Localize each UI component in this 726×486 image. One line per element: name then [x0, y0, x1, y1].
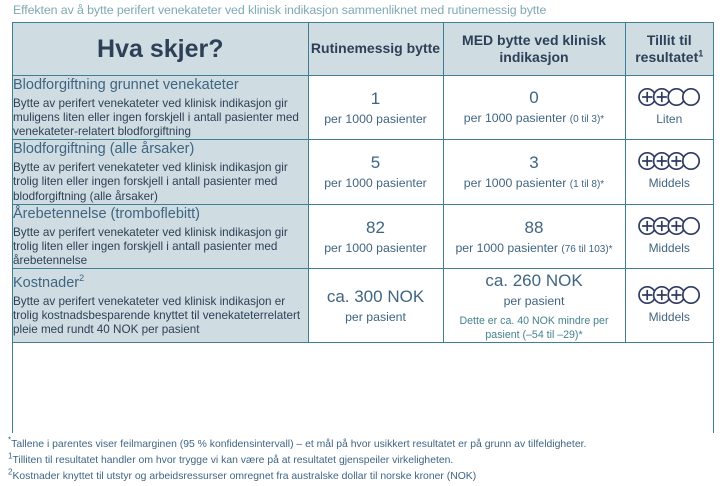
- outcome-cell: Blodforgiftning grunnet venekateterBytte…: [13, 75, 308, 140]
- footnote-text: Tilliten til resultatet handler om hvor …: [12, 455, 453, 466]
- routine-unit: per 1000 pasienter: [309, 111, 443, 128]
- outcome-cell: Kostnader2Bytte av perifert venekateter …: [13, 269, 308, 343]
- confidence-interval: (76 til 103)*: [561, 244, 612, 255]
- footnote: 2Kostnader knyttet til utstyr og arbeids…: [8, 469, 718, 485]
- outcome-title: Kostnader2: [13, 274, 308, 293]
- trust-label: Liten: [656, 112, 682, 126]
- trust-label: Middels: [649, 310, 690, 324]
- table-row: Kostnader2Bytte av perifert venekateter …: [13, 269, 713, 343]
- table-header-row: Hva skjer? Rutinemessig bytte MED bytte …: [13, 23, 713, 75]
- clinical-value: 3: [444, 151, 625, 175]
- clinical-cell: 0per 1000 pasienter (0 til 3)*: [443, 75, 625, 140]
- grade-circles-icon: [626, 216, 714, 236]
- outcome-description: Bytte av perifert venekateter ved klinis…: [13, 226, 308, 269]
- clinical-cell: ca. 260 NOKper pasientDette er ca. 40 NO…: [443, 269, 625, 343]
- routine-unit: per 1000 pasienter: [309, 240, 443, 257]
- header-trust-label: Tillit til resultatet: [635, 32, 698, 65]
- clinical-value: ca. 260 NOK: [444, 269, 625, 293]
- outcome-title: Årebetennelse (tromboflebitt): [13, 205, 308, 224]
- confidence-interval: (1 til 8)*: [570, 179, 604, 190]
- footnote-text: Kostnader knyttet til utstyr og arbeidsr…: [12, 471, 476, 482]
- routine-cell: ca. 300 NOKper pasient: [308, 269, 443, 343]
- sof-table-page: Effekten av å bytte perifert venekateter…: [0, 0, 726, 486]
- clinical-cell: 3per 1000 pasienter (1 til 8)*: [443, 140, 625, 205]
- page-title: Effekten av å bytte perifert venekateter…: [13, 2, 713, 19]
- routine-value: 82: [309, 216, 443, 240]
- clinical-value: 88: [444, 216, 625, 240]
- routine-cell: 5per 1000 pasienter: [308, 140, 443, 205]
- routine-unit: per pasient: [309, 309, 443, 326]
- outcome-description: Bytte av perifert venekateter ved klinis…: [13, 97, 308, 140]
- table-row: Årebetennelse (tromboflebitt)Bytte av pe…: [13, 204, 713, 269]
- routine-value: 1: [309, 87, 443, 111]
- footnote: 1Tilliten til resultatet handler om hvor…: [8, 453, 718, 469]
- trust-cell: Middels: [625, 204, 713, 269]
- summary-of-findings-table: Hva skjer? Rutinemessig bytte MED bytte …: [12, 22, 714, 474]
- grade-circles-icon: [626, 151, 714, 171]
- clinical-cell: 88per 1000 pasienter (76 til 103)*: [443, 204, 625, 269]
- routine-value: ca. 300 NOK: [309, 285, 443, 309]
- header-outcome: Hva skjer?: [13, 23, 308, 75]
- clinical-unit: per 1000 pasienter (0 til 3)*: [444, 110, 625, 128]
- clinical-unit: per pasient: [444, 293, 625, 310]
- table-body: Blodforgiftning grunnet venekateterBytte…: [13, 75, 713, 343]
- table-row: Blodforgiftning (alle årsaker)Bytte av p…: [13, 140, 713, 205]
- footnote: *Tallene i parentes viser feilmarginen (…: [8, 437, 718, 453]
- header-clinical: MED bytte ved klinisk indikasjon: [443, 23, 625, 75]
- outcome-cell: Blodforgiftning (alle årsaker)Bytte av p…: [13, 140, 308, 205]
- footnote-text: Tallene i parentes viser feilmarginen (9…: [11, 439, 586, 450]
- header-trust: Tillit til resultatet1: [625, 23, 713, 75]
- trust-cell: Liten: [625, 75, 713, 140]
- trust-label: Middels: [649, 176, 690, 190]
- table-row: Blodforgiftning grunnet venekateterBytte…: [13, 75, 713, 140]
- trust-cell: Middels: [625, 140, 713, 205]
- trust-cell: Middels: [625, 269, 713, 343]
- grade-circles-icon: [626, 87, 714, 107]
- outcome-cell: Årebetennelse (tromboflebitt)Bytte av pe…: [13, 204, 308, 269]
- outcome-title: Blodforgiftning grunnet venekateter: [13, 76, 308, 95]
- outcome-description: Bytte av perifert venekateter ved klinis…: [13, 161, 308, 204]
- grade-circles-icon: [626, 285, 714, 305]
- clinical-value: 0: [444, 86, 625, 110]
- routine-cell: 82per 1000 pasienter: [308, 204, 443, 269]
- footnotes: *Tallene i parentes viser feilmarginen (…: [0, 433, 726, 486]
- routine-value: 5: [309, 151, 443, 175]
- trust-label: Middels: [649, 241, 690, 255]
- outcome-title-superscript: 2: [79, 273, 84, 283]
- clinical-unit: per 1000 pasienter (76 til 103)*: [444, 240, 625, 258]
- header-trust-superscript: 1: [698, 48, 703, 58]
- sof-table: Hva skjer? Rutinemessig bytte MED bytte …: [13, 23, 713, 343]
- confidence-interval: (0 til 3)*: [570, 114, 604, 125]
- routine-cell: 1per 1000 pasienter: [308, 75, 443, 140]
- outcome-title: Blodforgiftning (alle årsaker): [13, 140, 308, 159]
- outcome-description: Bytte av perifert venekateter ved klinis…: [13, 295, 308, 338]
- clinical-unit: per 1000 pasienter (1 til 8)*: [444, 175, 625, 193]
- cell-note: Dette er ca. 40 NOK mindre per pasient (…: [444, 315, 625, 342]
- header-routine: Rutinemessig bytte: [308, 23, 443, 75]
- routine-unit: per 1000 pasienter: [309, 175, 443, 192]
